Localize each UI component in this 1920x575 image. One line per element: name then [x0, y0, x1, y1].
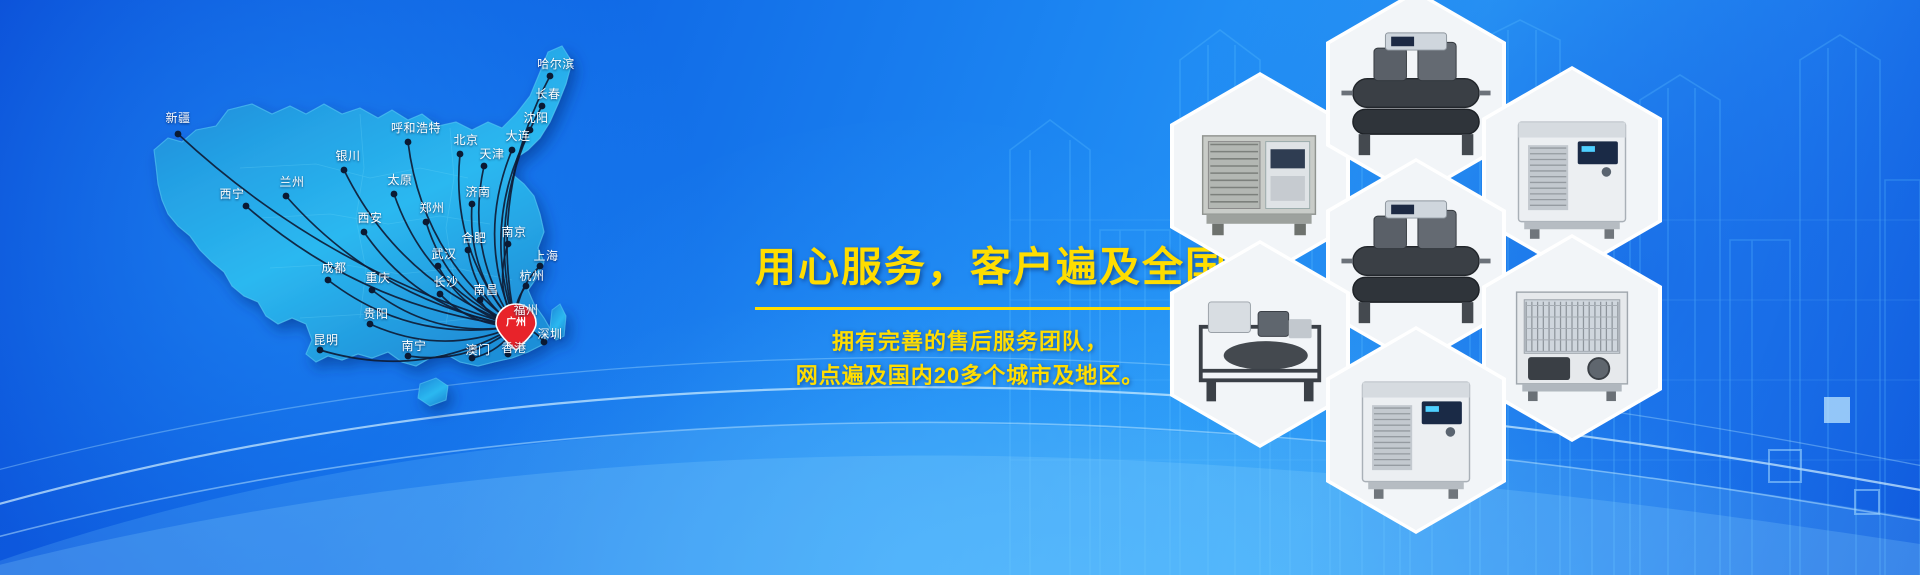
product-photo — [1174, 244, 1346, 444]
map-city-label: 合肥 — [461, 232, 486, 244]
map-city-label: 大连 — [505, 130, 530, 142]
map-city-dot[interactable] — [469, 201, 476, 208]
map-city-dot[interactable] — [465, 247, 472, 254]
map-city-label: 太原 — [387, 174, 412, 186]
map-city-label: 郑州 — [419, 202, 444, 214]
map-city-dot[interactable] — [547, 73, 554, 80]
product-hex-image — [1330, 330, 1502, 530]
map-city-dot[interactable] — [175, 131, 182, 138]
map-city-label: 武汉 — [431, 248, 456, 260]
map-city-label: 深圳 — [537, 328, 562, 340]
map-city-label: 长沙 — [433, 276, 458, 288]
map-city-dot[interactable] — [243, 203, 250, 210]
map-city-dot[interactable] — [539, 103, 546, 110]
map-city-label: 长春 — [535, 88, 560, 100]
map-city-label: 银川 — [335, 150, 360, 162]
map-city-label: 杭州 — [519, 270, 544, 282]
product-hex-image — [1174, 244, 1346, 444]
map-city-label: 昆明 — [313, 334, 338, 346]
map-city-dot[interactable] — [505, 241, 512, 248]
map-city-label: 沈阳 — [523, 112, 548, 124]
map-city-label: 南京 — [501, 226, 526, 238]
subtitle-line-2: 网点遍及国内20多个城市及地区。 — [755, 359, 1185, 393]
map-city-dot[interactable] — [405, 139, 412, 146]
product-photo — [1330, 330, 1502, 530]
hub-label-guangzhou: 广州 — [506, 314, 526, 329]
map-city-label: 澳门 — [465, 344, 490, 356]
product-hex-tile[interactable] — [1326, 326, 1506, 534]
subtitle-line-1: 拥有完善的售后服务团队， — [755, 325, 1185, 359]
product-hex-tile[interactable] — [1170, 240, 1350, 448]
map-city-label: 香港 — [501, 342, 526, 354]
map-city-label: 兰州 — [279, 176, 304, 188]
product-hex-tile[interactable] — [1482, 234, 1662, 442]
title-divider — [755, 307, 1185, 310]
promo-banner: 新疆西宁兰州银川呼和浩特北京天津哈尔滨长春沈阳大连太原西安郑州济南合肥南京上海杭… — [0, 0, 1920, 575]
map-city-label: 重庆 — [365, 272, 390, 284]
map-city-dot[interactable] — [325, 277, 332, 284]
china-distribution-map: 新疆西宁兰州银川呼和浩特北京天津哈尔滨长春沈阳大连太原西安郑州济南合肥南京上海杭… — [120, 18, 680, 438]
map-city-dot[interactable] — [481, 163, 488, 170]
map-svg — [120, 18, 680, 438]
map-city-dot[interactable] — [361, 229, 368, 236]
map-city-dot[interactable] — [369, 287, 376, 294]
map-city-dot[interactable] — [437, 291, 444, 298]
map-city-dot[interactable] — [283, 193, 290, 200]
product-hex-image — [1486, 238, 1658, 438]
map-city-dot[interactable] — [509, 147, 516, 154]
map-city-label: 呼和浩特 — [391, 122, 441, 134]
promo-copy-block: 用心服务，客户遍及全国 拥有完善的售后服务团队， 网点遍及国内20多个城市及地区… — [755, 245, 1185, 393]
map-city-dot[interactable] — [341, 167, 348, 174]
product-photo — [1486, 238, 1658, 438]
map-city-label: 南昌 — [473, 284, 498, 296]
map-city-label: 贵阳 — [363, 308, 388, 320]
map-city-label: 成都 — [321, 262, 346, 274]
map-city-dot[interactable] — [423, 219, 430, 226]
page-title: 用心服务，客户遍及全国 — [755, 245, 1185, 290]
map-city-dot[interactable] — [405, 353, 412, 360]
map-city-label: 上海 — [533, 250, 558, 262]
map-city-label: 北京 — [453, 134, 478, 146]
map-city-label: 新疆 — [165, 112, 190, 124]
product-hex-gallery — [1170, 0, 1920, 575]
map-city-label: 哈尔滨 — [537, 58, 575, 70]
map-city-label: 济南 — [465, 186, 490, 198]
map-city-dot[interactable] — [523, 283, 530, 290]
map-city-dot[interactable] — [477, 297, 484, 304]
map-city-label: 西宁 — [219, 188, 244, 200]
map-city-dot[interactable] — [317, 347, 324, 354]
map-city-dot[interactable] — [367, 321, 374, 328]
map-city-dot[interactable] — [435, 263, 442, 270]
map-city-label: 南宁 — [401, 340, 426, 352]
map-city-label: 西安 — [357, 212, 382, 224]
map-city-dot[interactable] — [391, 191, 398, 198]
map-city-label: 天津 — [479, 148, 504, 160]
map-city-dot[interactable] — [457, 151, 464, 158]
